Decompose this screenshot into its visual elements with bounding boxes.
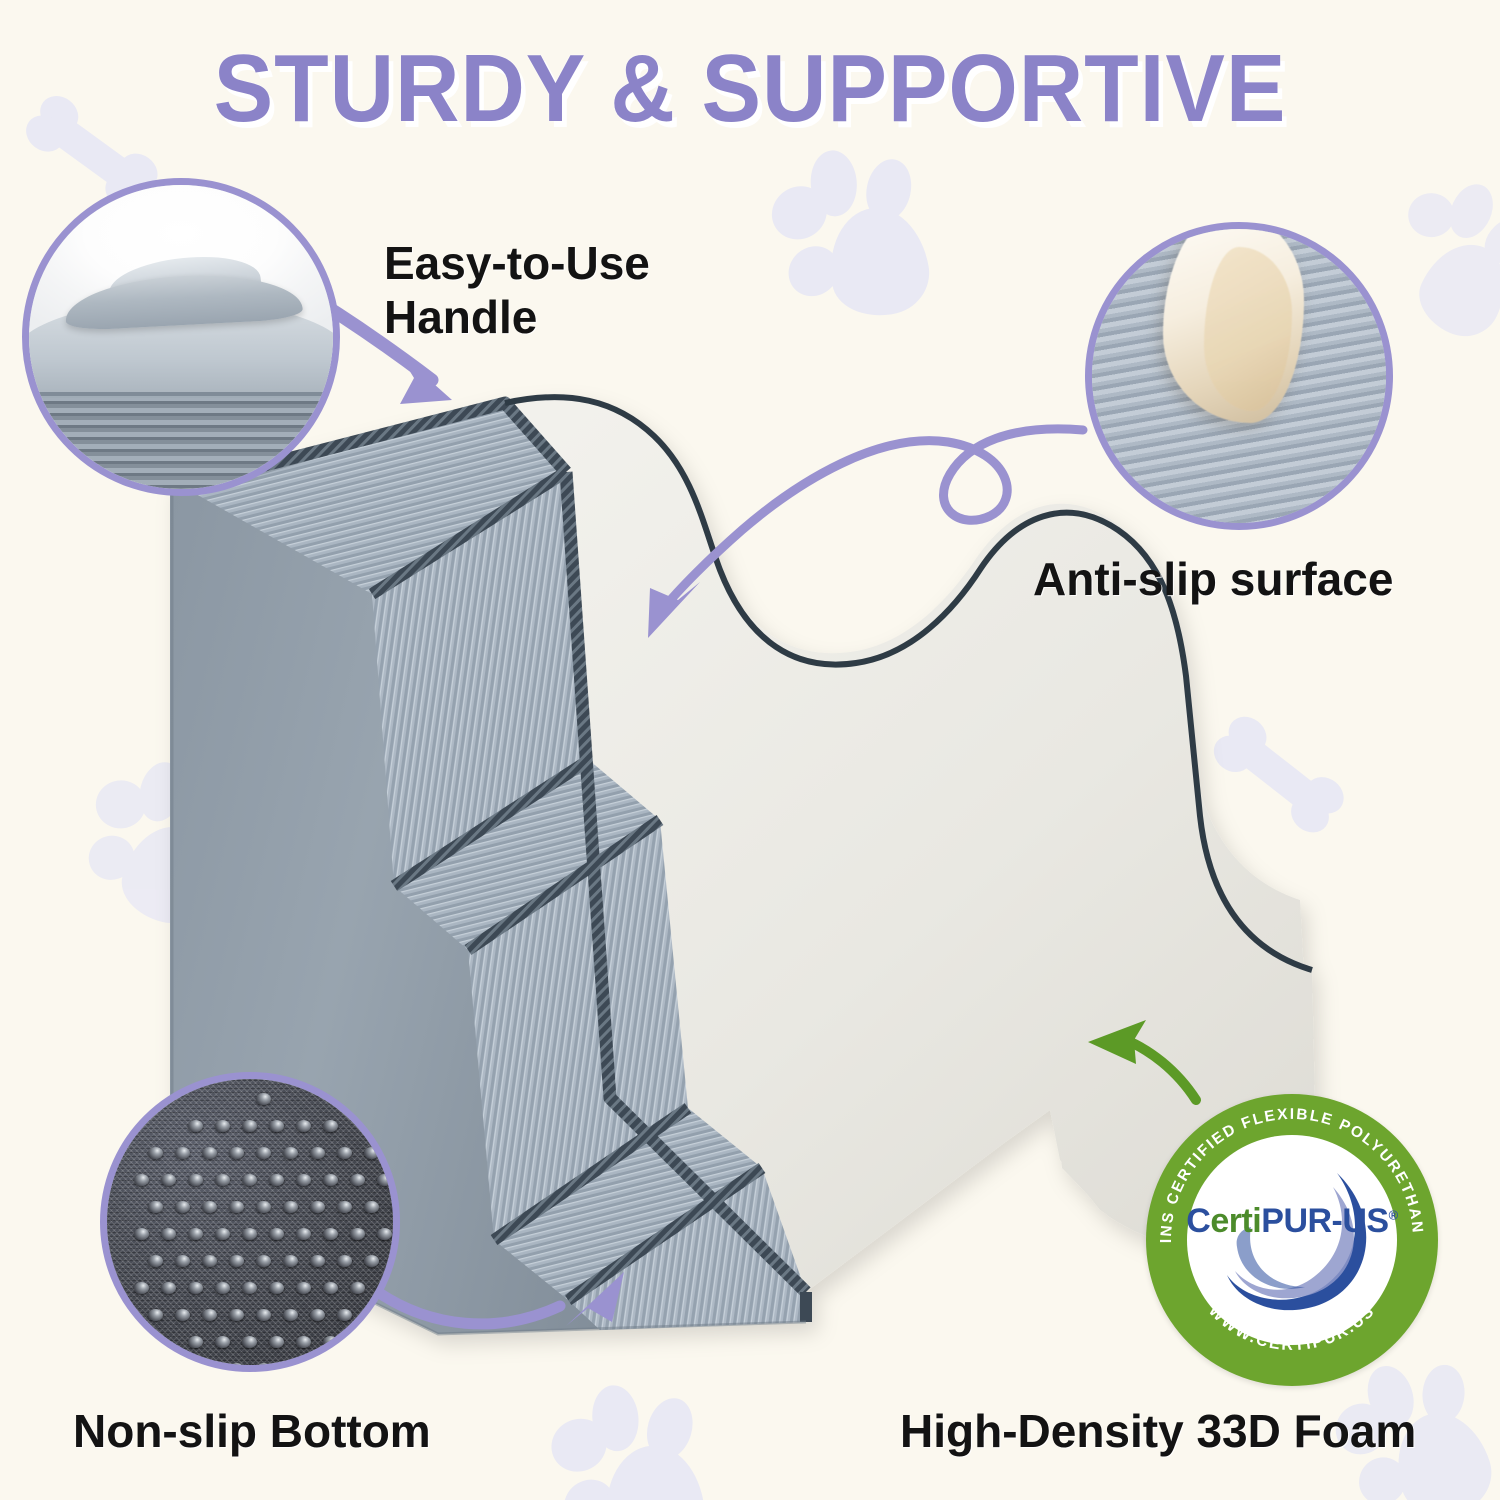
inset-nonslip-photo[interactable] <box>100 1072 400 1372</box>
antislip-photo-image <box>1092 229 1386 523</box>
label-easy-to-use-handle: Easy-to-Use Handle <box>384 236 650 345</box>
label-anti-slip-surface: Anti-slip surface <box>1033 552 1393 606</box>
infographic-canvas: STURDY & SUPPORTIVE <box>0 0 1500 1500</box>
certipur-registered-mark: ® <box>1389 1208 1398 1223</box>
label-non-slip-bottom: Non-slip Bottom <box>73 1404 431 1458</box>
label-high-density-foam: High-Density 33D Foam <box>900 1404 1416 1458</box>
handle-photo-image <box>29 185 333 489</box>
certipur-wordmark-pur-us: PUR-US <box>1261 1202 1388 1240</box>
certipur-wordmark: CertiPUR-US® <box>1146 1202 1438 1241</box>
inset-handle-photo[interactable] <box>22 178 340 496</box>
certipur-wordmark-erti: erti <box>1210 1202 1261 1240</box>
nonslip-photo-image <box>107 1079 393 1365</box>
certipur-wordmark-c: C <box>1186 1202 1210 1240</box>
certipur-us-badge[interactable]: CONTAINS CERTIFIED FLEXIBLE POLYURETHANE… <box>1146 1094 1438 1386</box>
inset-antislip-photo[interactable] <box>1085 222 1393 530</box>
